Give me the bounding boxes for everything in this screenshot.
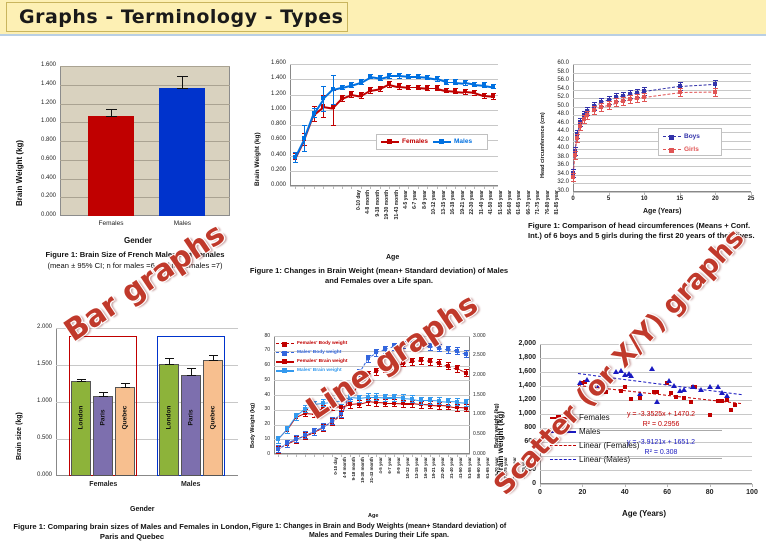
x-tick-mark — [465, 186, 466, 189]
page-title: Graphs - Terminology - Types — [19, 6, 343, 28]
error-cap — [397, 89, 402, 90]
error-cap — [401, 407, 406, 408]
error-cap — [401, 366, 406, 367]
data-point — [455, 400, 459, 404]
error-cap — [571, 173, 576, 174]
x-tick-females: Females — [89, 220, 133, 227]
error-cap — [437, 366, 442, 367]
error-cap — [331, 125, 336, 126]
data-point — [425, 75, 429, 79]
data-point — [614, 100, 618, 104]
error-cap — [464, 411, 469, 412]
error-cap — [435, 90, 440, 91]
c4-x-axis-title: Gender — [130, 506, 155, 513]
error-cap — [491, 99, 496, 100]
error-cap — [321, 430, 326, 431]
error-cap — [374, 356, 379, 357]
error-cap — [713, 88, 718, 89]
error-cap — [339, 417, 344, 418]
data-point — [584, 377, 590, 382]
error-cap — [339, 404, 344, 405]
x-tick-mark — [408, 186, 409, 189]
error-cap — [446, 409, 451, 410]
data-point — [368, 74, 372, 78]
data-point — [383, 347, 387, 351]
y-tick-label: 1.000 — [18, 398, 52, 404]
error-cap — [106, 116, 117, 117]
error-cap — [366, 405, 371, 406]
c1-caption-sub: (mean ± 95% CI; n for males =6 and for f… — [12, 261, 258, 271]
data-point — [312, 111, 316, 115]
data-point — [577, 380, 583, 385]
x-tick-mark — [403, 454, 404, 457]
data-point — [463, 80, 467, 84]
gridline — [573, 81, 751, 82]
x-tick-mark — [305, 454, 306, 457]
data-point — [592, 108, 596, 112]
data-point — [642, 95, 646, 99]
error-cap — [321, 412, 326, 413]
error-cap — [177, 88, 188, 89]
error-cap — [330, 424, 335, 425]
x-tick-label: 61-65 year — [485, 457, 490, 509]
x-tick-label: 0-10 day — [333, 457, 338, 509]
data-point — [392, 344, 396, 348]
x-tick-mark — [582, 484, 583, 487]
data-point — [330, 419, 334, 423]
error-cap — [312, 121, 317, 122]
bar-label-paris: Paris — [187, 396, 194, 440]
data-point — [410, 359, 414, 363]
error-cap — [366, 362, 371, 363]
data-point — [428, 344, 432, 348]
error-cap — [472, 86, 477, 87]
gridline — [573, 166, 751, 167]
error-cap — [444, 92, 449, 93]
x-tick-label: 0-10 day — [356, 190, 362, 248]
error-cap — [428, 404, 433, 405]
legend-label: Girls — [684, 146, 699, 153]
c5-legend[interactable]: Females' Body weightMales' Body weightFe… — [276, 338, 362, 374]
y-tick-label: 32.0 — [539, 179, 569, 185]
gridline — [573, 124, 751, 125]
group-label-males: Males — [161, 481, 221, 488]
x-tick-label: 9-18 month — [375, 190, 381, 248]
error-cap — [453, 84, 458, 85]
error-cap — [410, 402, 415, 403]
error-cap — [392, 350, 397, 351]
data-point — [302, 136, 306, 140]
x-tick-label: 4-5 year — [403, 190, 409, 248]
r2-text-females: R² = 0.2956 — [600, 420, 722, 430]
x-tick-label: 4-8 month — [342, 457, 347, 509]
y-tick-label: 80 — [252, 333, 270, 339]
data-point — [357, 381, 361, 385]
error-cap — [582, 123, 587, 124]
legend-marker — [282, 368, 287, 373]
legend-key — [550, 431, 576, 433]
data-point — [293, 155, 297, 159]
x-tick-label: 19-30 month — [360, 457, 365, 509]
error-cap — [276, 452, 281, 453]
error-cap — [678, 88, 683, 89]
x-tick-label: 41-50 year — [488, 190, 494, 248]
data-point — [348, 402, 352, 406]
c3-caption: Figure 1: Comparison of head circumferen… — [528, 221, 764, 242]
error-cap — [464, 406, 469, 407]
error-cap — [165, 358, 174, 359]
y-tick-label: 34.0 — [539, 171, 569, 177]
data-point — [649, 366, 655, 371]
x-tick-label: 4-5 year — [378, 457, 383, 509]
gridline — [573, 183, 751, 184]
error-cap — [573, 151, 578, 152]
error-cap — [599, 111, 604, 112]
x-tick-males: Males — [160, 220, 204, 227]
error-bar — [182, 76, 183, 87]
x-tick-mark — [715, 192, 716, 195]
gridline — [274, 336, 470, 337]
y-tick-label: 0.000 — [252, 182, 286, 188]
data-point — [713, 90, 717, 94]
y-tick-label: 1,000 — [504, 410, 536, 417]
data-point — [419, 398, 423, 402]
data-point — [464, 352, 468, 356]
legend-key — [550, 417, 576, 419]
data-point — [340, 85, 344, 89]
data-point — [378, 76, 382, 80]
error-cap — [383, 353, 388, 354]
error-cap — [209, 355, 218, 356]
c4-caption: Figure 1: Comparing brain sizes of Males… — [12, 522, 252, 543]
data-point — [446, 347, 450, 351]
x-tick-mark — [752, 484, 753, 487]
x-tick-label: 31-43 month — [394, 190, 400, 248]
equation-text-females: y = -3.3525x + 1470.2 — [600, 410, 722, 420]
y-tick-label: 0.000 — [18, 472, 52, 478]
error-cap — [374, 400, 379, 401]
x-tick-mark — [625, 484, 626, 487]
data-point — [387, 73, 391, 77]
error-cap — [416, 78, 421, 79]
data-point — [455, 349, 459, 353]
bar-label-paris: Paris — [100, 396, 107, 440]
x-tick-label: 31-40 year — [479, 190, 485, 248]
legend-marker — [556, 415, 561, 420]
x-tick-mark — [710, 484, 711, 487]
x-tick-label: 22-30 year — [469, 190, 475, 248]
data-point — [294, 414, 298, 418]
error-cap — [330, 410, 335, 411]
data-point — [715, 384, 721, 389]
error-cap — [312, 108, 317, 109]
data-point — [428, 398, 432, 402]
y-tick-label: 0.000 — [20, 212, 56, 218]
legend-key — [276, 343, 294, 344]
gridline — [573, 175, 751, 176]
data-point — [340, 96, 344, 100]
gridline — [540, 484, 752, 485]
data-point — [707, 384, 713, 389]
gridline — [60, 85, 230, 86]
error-cap — [410, 348, 415, 349]
data-point — [303, 433, 307, 437]
y-tick-label: 0.200 — [20, 193, 56, 199]
c2-legend[interactable]: FemalesMales — [376, 134, 488, 150]
error-cap — [330, 405, 335, 406]
title-box: Graphs - Terminology - Types — [6, 2, 348, 32]
x-tick-label: 6-7 year — [412, 190, 418, 248]
data-point — [437, 399, 441, 403]
legend-item-females[interactable]: Females — [381, 136, 428, 147]
error-cap — [464, 376, 469, 377]
x-tick-label: 20 — [705, 196, 725, 202]
c6-x-axis-title: Age (Years) — [622, 509, 666, 518]
data-point — [444, 80, 448, 84]
error-cap — [392, 406, 397, 407]
data-point — [349, 92, 353, 96]
error-cap — [463, 85, 468, 86]
error-cap — [425, 90, 430, 91]
x-tick-mark — [540, 484, 541, 487]
y-tick-label: 58.0 — [539, 69, 569, 75]
gridline — [56, 328, 238, 329]
error-cap — [349, 97, 354, 98]
x-tick-mark — [304, 186, 305, 189]
y-tick-label: 2,000 — [504, 340, 536, 347]
legend-item-males[interactable]: Males — [433, 136, 472, 147]
y-tick-label: 0.600 — [252, 136, 286, 142]
error-cap — [357, 376, 362, 377]
error-cap — [312, 408, 317, 409]
error-cap — [573, 159, 578, 160]
equation-males: y = -3.9121x + 1651.2R² = 0.308 — [600, 438, 722, 459]
y-tick-label: 0 — [504, 480, 536, 487]
error-cap — [585, 107, 590, 108]
x-tick-label: 10-12 year — [431, 190, 437, 248]
data-point — [321, 401, 325, 405]
data-point — [276, 447, 280, 451]
data-point — [397, 84, 401, 88]
data-point — [628, 373, 634, 378]
y-tick-label: 40 — [252, 392, 270, 398]
error-cap — [165, 364, 174, 365]
data-point — [285, 441, 289, 445]
data-point — [578, 124, 582, 128]
error-cap — [392, 401, 397, 402]
x-tick-label: 0 — [563, 196, 583, 202]
error-cap — [635, 94, 640, 95]
error-cap — [628, 103, 633, 104]
y-tick-label: 2.000 — [18, 324, 52, 330]
data-point — [401, 396, 405, 400]
y-tick-label: 0.500 — [18, 435, 52, 441]
y-tick-label: 800 — [504, 424, 536, 431]
x-tick-mark — [437, 186, 438, 189]
error-cap — [387, 78, 392, 79]
title-divider — [0, 34, 766, 36]
legend-item-males[interactable]: Males — [550, 426, 600, 437]
y-tick-label: 44.0 — [539, 128, 569, 134]
data-point — [366, 395, 370, 399]
error-cap — [99, 392, 108, 393]
x-tick-mark — [667, 484, 668, 487]
y-tick-label: 70 — [252, 347, 270, 353]
gridline — [274, 454, 470, 455]
error-cap — [397, 78, 402, 79]
data-point — [387, 82, 391, 86]
error-cap — [453, 93, 458, 94]
error-cap — [368, 78, 373, 79]
error-cap — [446, 369, 451, 370]
error-cap — [455, 405, 460, 406]
error-cap — [187, 368, 196, 369]
x-tick-mark — [323, 186, 324, 189]
legend-marker — [669, 148, 674, 153]
data-point — [410, 397, 414, 401]
error-cap — [635, 89, 640, 90]
error-cap — [446, 353, 451, 354]
chart-panel-head-circumference: Head circumference (cm) 60.058.056.054.0… — [518, 58, 766, 258]
error-cap — [121, 387, 130, 388]
data-point — [575, 136, 579, 140]
x-tick-mark — [359, 454, 360, 457]
data-point — [383, 366, 387, 370]
data-point — [571, 175, 575, 179]
data-point — [378, 86, 382, 90]
x-tick-mark — [751, 192, 752, 195]
error-cap — [607, 109, 612, 110]
legend-label: Females' Body weight — [297, 341, 347, 346]
error-cap — [121, 383, 130, 384]
y-tick-label: 1,200 — [504, 396, 536, 403]
x-tick-mark — [295, 186, 296, 189]
error-cap — [302, 125, 307, 126]
legend-marker — [556, 428, 562, 433]
c2-caption: Figure 1: Changes in Brain Weight (mean+… — [248, 266, 510, 287]
gridline — [290, 186, 498, 187]
y-tick-label: 0.200 — [252, 167, 286, 173]
error-cap — [642, 101, 647, 102]
error-cap — [340, 89, 345, 90]
data-point — [410, 342, 414, 346]
x-tick-mark — [430, 454, 431, 457]
y-tick-label: 36.0 — [539, 162, 569, 168]
data-point — [357, 396, 361, 400]
x-tick-mark — [296, 454, 297, 457]
error-cap — [410, 365, 415, 366]
gridline — [540, 358, 752, 359]
y-tick-label: 30.0 — [539, 188, 569, 194]
error-cap — [77, 381, 86, 382]
x-tick-mark — [333, 186, 334, 189]
x-tick-mark — [314, 454, 315, 457]
error-cap — [678, 82, 683, 83]
c3-legend[interactable]: BoysGirls — [658, 128, 722, 156]
gridline — [573, 158, 751, 159]
legend-key — [276, 361, 294, 363]
y-tick-label: 1,800 — [504, 354, 536, 361]
error-cap — [302, 151, 307, 152]
error-cap — [575, 142, 580, 143]
error-cap — [303, 416, 308, 417]
error-cap — [642, 93, 647, 94]
c5-caption: Figure 1: Changes in Brain and Body Weig… — [248, 522, 510, 541]
error-cap — [357, 387, 362, 388]
gridline — [573, 73, 751, 74]
gridline — [573, 115, 751, 116]
gridline — [540, 372, 752, 373]
error-cap — [321, 406, 326, 407]
x-tick-mark — [385, 454, 386, 457]
y-tick-label: 1.000 — [20, 118, 56, 124]
error-cap — [416, 89, 421, 90]
data-point — [482, 83, 486, 87]
data-point — [435, 86, 439, 90]
data-point — [573, 153, 577, 157]
error-cap — [419, 364, 424, 365]
x-tick-mark — [448, 454, 449, 457]
error-cap — [331, 104, 336, 105]
legend-label: Males — [454, 138, 472, 145]
legend-item-3[interactable]: Males' Brain weight — [276, 365, 342, 376]
data-point — [406, 85, 410, 89]
error-cap — [378, 80, 383, 81]
x-tick-mark — [341, 454, 342, 457]
error-cap — [464, 357, 469, 358]
y-tick-label: 0.800 — [20, 137, 56, 143]
data-point — [374, 395, 378, 399]
x-tick-mark — [394, 454, 395, 457]
error-cap — [340, 101, 345, 102]
x-tick-label: 9-18 month — [351, 457, 356, 509]
error-cap — [312, 106, 317, 107]
data-point — [472, 90, 476, 94]
x-tick-mark — [680, 192, 681, 195]
data-point — [455, 366, 459, 370]
x-tick-label: 16-18 year — [423, 457, 428, 509]
legend-item-girls[interactable]: Girls — [663, 144, 699, 155]
data-point — [294, 437, 298, 441]
legend-item-boys[interactable]: Boys — [663, 131, 700, 142]
x-tick-mark — [644, 192, 645, 195]
legend-label: Females — [402, 138, 428, 145]
data-point — [312, 429, 316, 433]
x-tick-mark — [370, 186, 371, 189]
x-tick-mark — [351, 186, 352, 189]
error-cap — [401, 401, 406, 402]
x-tick-mark — [457, 454, 458, 457]
x-tick-label: 16-18 year — [450, 190, 456, 248]
data-point — [374, 350, 378, 354]
y-tick-label: 0.800 — [252, 121, 286, 127]
error-cap — [177, 76, 188, 77]
y-tick-label: 48.0 — [539, 111, 569, 117]
legend-marker — [282, 359, 287, 364]
data-point — [729, 408, 733, 412]
data-point — [689, 400, 693, 404]
legend-marker — [669, 135, 674, 140]
title-bar: Graphs - Terminology - Types — [0, 0, 766, 36]
error-cap — [285, 447, 290, 448]
error-cap — [428, 365, 433, 366]
error-cap — [437, 351, 442, 352]
y-tick-label: 60.0 — [539, 60, 569, 66]
error-cap — [621, 92, 626, 93]
y-tick-label: 1.000 — [252, 106, 286, 112]
error-cap — [276, 443, 281, 444]
y-tick-label: 40.0 — [539, 145, 569, 151]
